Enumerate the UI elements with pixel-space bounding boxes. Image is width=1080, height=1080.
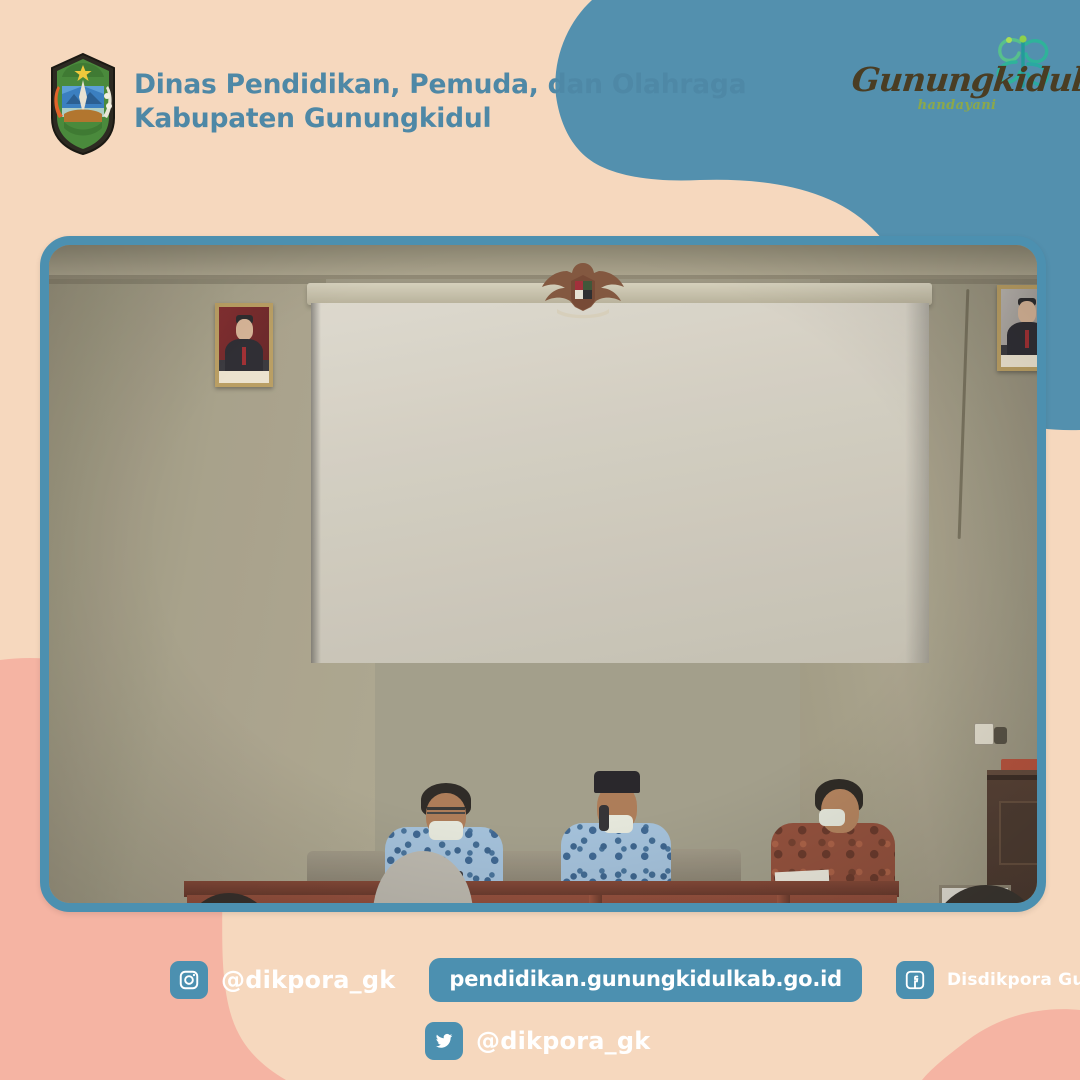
instagram-handle[interactable]: @dikpora_gk: [221, 966, 395, 994]
social-footer: @dikpora_gk pendidikan.gunungkidulkab.go…: [0, 930, 1080, 1080]
photo-scene: DIKPORA 2017: [49, 245, 1037, 903]
instagram-icon[interactable]: [170, 961, 208, 999]
social-row-twitter: @dikpora_gk: [425, 1022, 650, 1060]
social-row-primary: @dikpora_gk pendidikan.gunungkidulkab.go…: [170, 958, 1080, 1002]
twitter-icon[interactable]: [425, 1022, 463, 1060]
page-title: Dinas Pendidikan, Pemuda, dan Olahraga K…: [134, 68, 746, 137]
brand-tagline: handayani: [872, 98, 1042, 113]
title-line-1: Dinas Pendidikan, Pemuda, dan Olahraga: [134, 68, 746, 102]
brand-wordmark: Gunungkidul: [850, 60, 1032, 99]
website-url[interactable]: pendidikan.gunungkidulkab.go.id: [429, 958, 862, 1002]
gunungkidul-handayani-logo: Gunungkidul handayani: [852, 30, 1062, 126]
gunungkidul-regency-crest-icon: [44, 52, 122, 156]
facebook-icon[interactable]: [896, 961, 934, 999]
event-photo: DIKPORA 2017: [40, 236, 1046, 912]
twitter-handle[interactable]: @dikpora_gk: [476, 1027, 650, 1055]
poster-header: Dinas Pendidikan, Pemuda, dan Olahraga K…: [0, 0, 1080, 210]
photo-vignette: [49, 245, 1037, 903]
poster-canvas: Dinas Pendidikan, Pemuda, dan Olahraga K…: [0, 0, 1080, 1080]
facebook-page-name[interactable]: Disdikpora Gunungkidul: [947, 970, 1080, 990]
title-line-2: Kabupaten Gunungkidul: [134, 102, 746, 136]
